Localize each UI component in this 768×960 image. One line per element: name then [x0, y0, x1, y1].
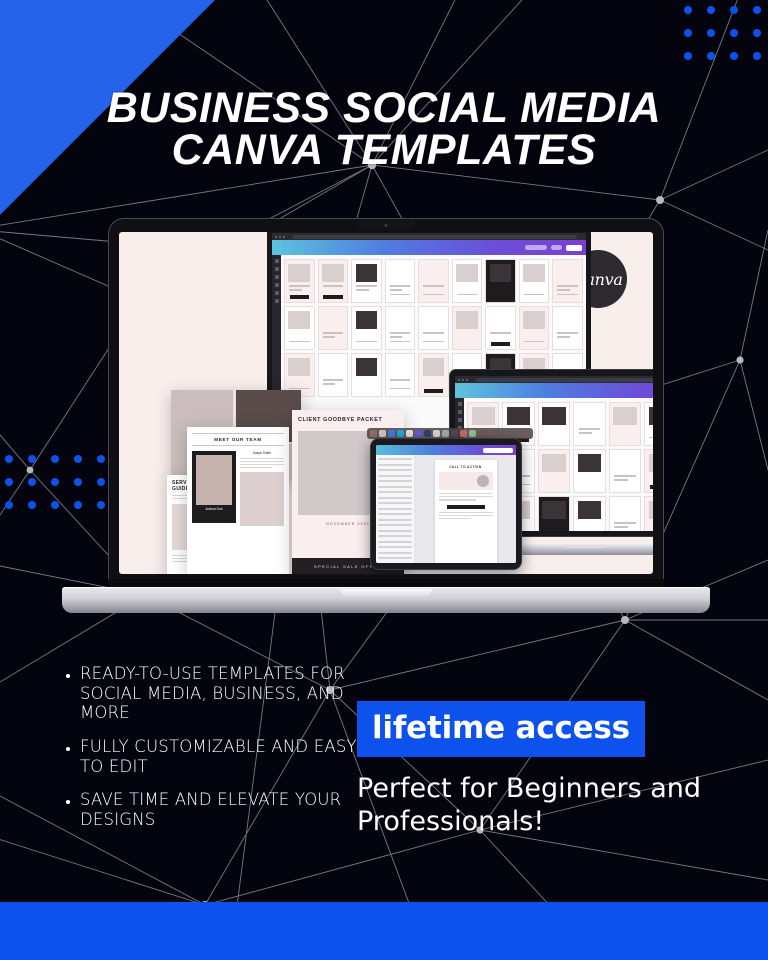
- tablet-screen: CALL TO ACTION: [376, 445, 516, 563]
- dot: [51, 478, 59, 486]
- dock-app-icon[interactable]: [433, 430, 440, 437]
- doc-page: CALL TO ACTION: [435, 460, 497, 563]
- dot-grid-top-right: [684, 6, 768, 75]
- dot: [707, 29, 715, 37]
- template-card[interactable]: [318, 259, 349, 303]
- dock-app-icon[interactable]: [424, 430, 431, 437]
- template-card[interactable]: [385, 259, 416, 303]
- window-dot-icon: [279, 236, 281, 238]
- rail-icon[interactable]: [458, 402, 462, 406]
- packet-title: CLIENT GOODBYE PACKET: [298, 417, 398, 424]
- doc-page-button[interactable]: [447, 505, 485, 509]
- template-card[interactable]: [538, 449, 570, 493]
- template-card[interactable]: [318, 353, 349, 397]
- dock-app-icon[interactable]: [379, 430, 386, 437]
- dock-app-icon[interactable]: [370, 430, 377, 437]
- template-card[interactable]: [573, 402, 605, 446]
- header-button[interactable]: [566, 245, 582, 251]
- lifetime-access-badge: lifetime access: [357, 701, 645, 757]
- template-card[interactable]: [519, 306, 550, 350]
- browser-chrome: [455, 376, 653, 383]
- template-card[interactable]: [573, 449, 605, 493]
- rail-icon[interactable]: [275, 299, 279, 303]
- laptop-base: [62, 587, 710, 613]
- doc-search-box[interactable]: [483, 448, 513, 453]
- dock-app-icon[interactable]: [388, 430, 395, 437]
- template-card[interactable]: [609, 496, 641, 531]
- page-title: BUSINESS SOCIAL MEDIA CANVA TEMPLATES: [0, 87, 768, 171]
- template-card[interactable]: [284, 259, 315, 303]
- template-card[interactable]: [644, 402, 653, 446]
- dock-app-icon[interactable]: [397, 430, 404, 437]
- template-card[interactable]: [351, 306, 382, 350]
- rail-icon[interactable]: [458, 410, 462, 414]
- template-card[interactable]: [485, 306, 516, 350]
- rail-icon[interactable]: [275, 283, 279, 287]
- template-card[interactable]: [644, 449, 653, 493]
- rail-icon[interactable]: [458, 418, 462, 422]
- rail-icon[interactable]: [275, 267, 279, 271]
- dot: [684, 29, 692, 37]
- list-item: READY-TO-USE TEMPLATES FOR SOCIAL MEDIA,…: [80, 664, 362, 723]
- dock-app-icon[interactable]: [442, 430, 449, 437]
- dock-app-icon[interactable]: [406, 430, 413, 437]
- template-card[interactable]: [644, 496, 653, 531]
- doc-canvas: CALL TO ACTION: [415, 455, 516, 563]
- dot: [684, 6, 692, 14]
- dot: [730, 29, 738, 37]
- dock-app-icon[interactable]: [469, 430, 476, 437]
- laptop-mockup: Canva: [62, 218, 710, 613]
- team-member-name: Andrea Doe: [192, 507, 236, 511]
- template-card[interactable]: [573, 496, 605, 531]
- bottom-accent-bar: [0, 902, 768, 960]
- team-card-title: MEET OUR TEAM: [192, 433, 284, 446]
- canva-app-header: [272, 240, 586, 255]
- window-dot-icon: [283, 236, 285, 238]
- template-card[interactable]: [418, 353, 449, 397]
- template-card[interactable]: [485, 259, 516, 303]
- template-card[interactable]: [538, 496, 570, 531]
- feature-bullet-list: READY-TO-USE TEMPLATES FOR SOCIAL MEDIA,…: [62, 664, 362, 843]
- header-pill: [525, 245, 547, 250]
- dot: [51, 501, 59, 509]
- template-card[interactable]: [418, 306, 449, 350]
- template-card[interactable]: [284, 306, 315, 350]
- dock-app-icon[interactable]: [460, 430, 467, 437]
- template-card[interactable]: [552, 259, 583, 303]
- dot: [51, 455, 59, 463]
- audience-subtitle: Perfect for Beginners and Professionals!: [357, 773, 717, 839]
- address-bar[interactable]: [476, 378, 653, 382]
- dot: [684, 52, 692, 60]
- address-bar[interactable]: [293, 235, 577, 239]
- dot: [5, 478, 13, 486]
- list-item: FULLY CUSTOMIZABLE AND EASY TO EDIT: [80, 737, 362, 776]
- doc-page-image: [439, 472, 493, 490]
- title-line-1: BUSINESS SOCIAL MEDIA: [107, 84, 661, 132]
- template-card[interactable]: [609, 402, 641, 446]
- dot: [5, 501, 13, 509]
- template-card[interactable]: [351, 353, 382, 397]
- dot: [5, 455, 13, 463]
- title-line-2: CANVA TEMPLATES: [0, 129, 768, 171]
- tablet-mockup: CALL TO ACTION: [370, 438, 522, 570]
- template-card[interactable]: [385, 353, 416, 397]
- team-photo: [240, 472, 284, 526]
- webcam-notch: [357, 220, 415, 230]
- template-card[interactable]: [519, 259, 550, 303]
- dot: [753, 29, 761, 37]
- dot: [707, 52, 715, 60]
- template-card[interactable]: [351, 259, 382, 303]
- team-member-name: Katya Smith: [240, 451, 284, 455]
- doc-app-header: [376, 445, 516, 455]
- dock-app-icon[interactable]: [451, 430, 458, 437]
- rail-icon[interactable]: [275, 291, 279, 295]
- doc-page-title: CALL TO ACTION: [439, 465, 493, 469]
- doc-app-body: CALL TO ACTION: [376, 455, 516, 563]
- dot: [753, 6, 761, 14]
- window-dot-icon: [466, 379, 468, 381]
- window-dot-icon: [462, 379, 464, 381]
- dot: [28, 501, 36, 509]
- dot: [753, 52, 761, 60]
- template-card[interactable]: [318, 306, 349, 350]
- template-card[interactable]: [452, 306, 483, 350]
- browser-chrome: [272, 233, 586, 240]
- dock-app-icon[interactable]: [415, 430, 422, 437]
- laptop-hinge: [108, 579, 664, 587]
- header-pill: [551, 245, 562, 250]
- window-dot-icon: [275, 236, 277, 238]
- template-card[interactable]: [385, 306, 416, 350]
- template-card[interactable]: [552, 306, 583, 350]
- dot: [28, 478, 36, 486]
- template-card[interactable]: [609, 449, 641, 493]
- team-photo-card: Andrea Doe: [192, 451, 236, 523]
- rail-icon[interactable]: [275, 275, 279, 279]
- template-card[interactable]: [452, 259, 483, 303]
- laptop-lid: Canva: [108, 218, 664, 585]
- window-dot-icon: [458, 379, 460, 381]
- dot: [707, 6, 715, 14]
- doc-sidebar: [376, 455, 415, 563]
- list-item: SAVE TIME AND ELEVATE YOUR DESIGNS: [80, 790, 362, 829]
- poster-canvas: BUSINESS SOCIAL MEDIA CANVA TEMPLATES Ca…: [0, 0, 768, 960]
- meet-our-team-card: MEET OUR TEAM Andrea Doe Katya Smith: [187, 427, 289, 574]
- template-card[interactable]: [418, 259, 449, 303]
- template-card[interactable]: [538, 402, 570, 446]
- dot: [730, 6, 738, 14]
- canva-app-header: [455, 383, 653, 398]
- laptop-screen: Canva: [119, 232, 653, 574]
- dot: [28, 455, 36, 463]
- dot: [730, 52, 738, 60]
- rail-icon[interactable]: [275, 259, 279, 263]
